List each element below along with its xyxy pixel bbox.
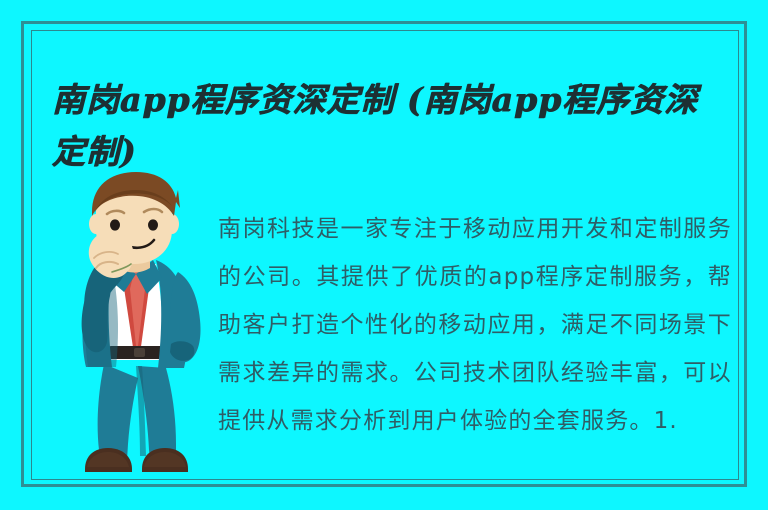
- right-ear: [165, 214, 179, 234]
- businessman-figure-icon: [52, 168, 222, 480]
- poster-canvas: 南岗app程序资深定制 (南岗app程序资深定制): [0, 0, 768, 510]
- article-body-text: 南岗科技是一家专注于移动应用开发和定制服务的公司。其提供了优质的app程序定制服…: [218, 205, 732, 445]
- belt-buckle: [134, 348, 145, 357]
- right-eye: [148, 219, 158, 230]
- thinking-businessman-illustration: [52, 168, 222, 480]
- left-ear: [89, 214, 103, 234]
- page-title: 南岗app程序资深定制 (南岗app程序资深定制): [52, 74, 717, 178]
- left-eye: [110, 219, 120, 230]
- left-leg: [98, 364, 138, 460]
